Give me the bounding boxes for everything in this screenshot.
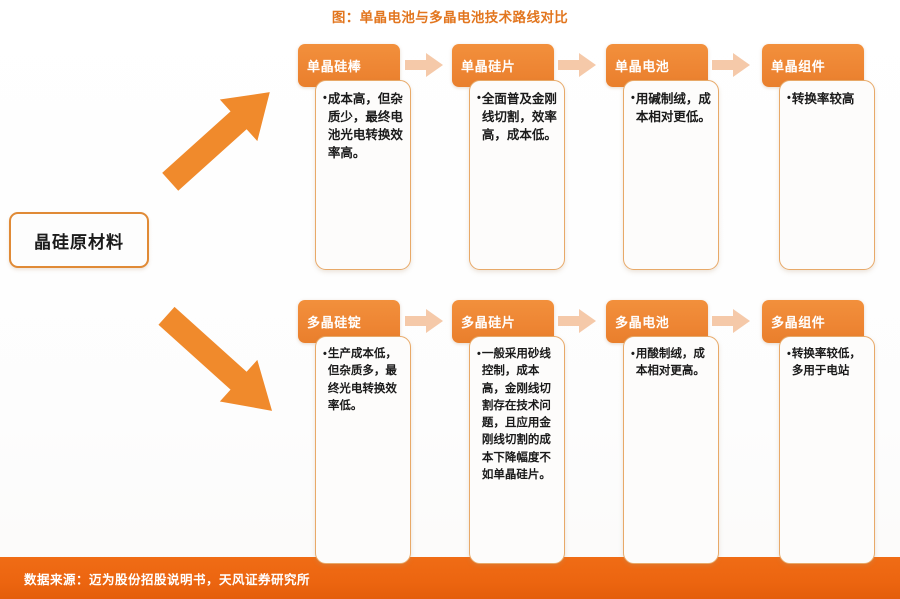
stage-poly-module: 多晶组件 • 转换率较低，多用于电站 xyxy=(762,300,887,550)
stage-mono-cell: 单晶电池 • 用碱制绒，成本相对更低。 xyxy=(606,44,726,274)
stage-mono-ingot: 单晶硅棒 • 成本高，但杂质少，最终电池光电转换效率高。 xyxy=(298,44,418,274)
bullet-marker: • xyxy=(787,346,791,363)
bullet-text: 成本高，但杂质少，最终电池光电转换效率高。 xyxy=(328,90,403,163)
bullet-item: • 用碱制绒，成本相对更低。 xyxy=(631,90,711,126)
stage-body: • 全面普及金刚线切割，效率高，成本低。 xyxy=(469,80,565,270)
stage-body: • 用碱制绒，成本相对更低。 xyxy=(623,80,719,270)
source-footer-bar: 数据来源：迈为股份招股说明书，天风证券研究所 xyxy=(0,557,900,599)
bullet-item: • 全面普及金刚线切割，效率高，成本低。 xyxy=(477,90,557,144)
bullet-marker: • xyxy=(323,346,327,363)
bullet-marker: • xyxy=(323,90,327,107)
stage-body: • 成本高，但杂质少，最终电池光电转换效率高。 xyxy=(315,80,411,270)
bullet-item: • 用酸制绒，成本相对更高。 xyxy=(631,346,711,381)
stage-body: • 一般采用砂线控制，成本高，金刚线切割存在技术问题，且应用金刚线切割的成本下降… xyxy=(469,336,565,564)
stage-poly-cell: 多晶电池 • 用酸制绒，成本相对更高。 xyxy=(606,300,726,550)
stage-poly-ingot: 多晶硅锭 • 生产成本低，但杂质多，最终光电转换效率低。 xyxy=(298,300,418,550)
arrow-up-right-icon xyxy=(145,62,295,212)
bullet-item: • 一般采用砂线控制，成本高，金刚线切割存在技术问题，且应用金刚线切割的成本下降… xyxy=(477,346,557,484)
bullet-marker: • xyxy=(787,90,791,107)
bullet-marker: • xyxy=(631,346,635,363)
arrow-down-right-icon xyxy=(140,292,300,437)
stage-header-label: 多晶电池 xyxy=(615,312,669,331)
stage-poly-wafer: 多晶硅片 • 一般采用砂线控制，成本高，金刚线切割存在技术问题，且应用金刚线切割… xyxy=(452,300,572,550)
bullet-text: 全面普及金刚线切割，效率高，成本低。 xyxy=(482,90,557,144)
bullet-item: • 成本高，但杂质少，最终电池光电转换效率高。 xyxy=(323,90,403,163)
connector-arrow-icon xyxy=(404,308,444,334)
stage-header-label: 单晶硅棒 xyxy=(307,56,361,75)
connector-arrow-icon xyxy=(557,52,597,78)
stage-body: • 生产成本低，但杂质多，最终光电转换效率低。 xyxy=(315,336,411,564)
bullet-marker: • xyxy=(477,346,481,363)
bullet-item: • 生产成本低，但杂质多，最终光电转换效率低。 xyxy=(323,346,403,415)
stage-header-label: 单晶电池 xyxy=(615,56,669,75)
connector-arrow-icon xyxy=(711,52,751,78)
stage-mono-wafer: 单晶硅片 • 全面普及金刚线切割，效率高，成本低。 xyxy=(452,44,572,274)
stage-body: • 转换率较高 xyxy=(779,80,875,270)
stage-header-label: 多晶硅片 xyxy=(461,312,515,331)
stage-mono-module: 单晶组件 • 转换率较高 xyxy=(762,44,887,274)
connector-arrow-icon xyxy=(711,308,751,334)
stage-header-label: 多晶硅锭 xyxy=(307,312,361,331)
source-material-box: 晶硅原材料 xyxy=(9,212,149,268)
connector-arrow-icon xyxy=(557,308,597,334)
bullet-text: 用酸制绒，成本相对更高。 xyxy=(636,346,711,381)
bullet-text: 转换率较低，多用于电站 xyxy=(792,346,867,381)
stage-body: • 用酸制绒，成本相对更高。 xyxy=(623,336,719,564)
bullet-text: 转换率较高 xyxy=(792,90,867,108)
stage-header-label: 多晶组件 xyxy=(771,312,825,331)
stage-header-label: 单晶组件 xyxy=(771,56,825,75)
page-title: 图：单晶电池与多晶电池技术路线对比 xyxy=(0,6,900,26)
diagram-canvas: 图：单晶电池与多晶电池技术路线对比 晶硅原材料 单晶硅棒 xyxy=(0,0,900,599)
bullet-marker: • xyxy=(477,90,481,107)
source-footer-text: 数据来源：迈为股份招股说明书，天风证券研究所 xyxy=(24,569,310,588)
connector-arrow-icon xyxy=(404,52,444,78)
source-material-label: 晶硅原材料 xyxy=(34,228,124,253)
bullet-text: 用碱制绒，成本相对更低。 xyxy=(636,90,711,126)
stage-header-label: 单晶硅片 xyxy=(461,56,515,75)
bullet-item: • 转换率较高 xyxy=(787,90,867,108)
bullet-marker: • xyxy=(631,90,635,107)
bullet-item: • 转换率较低，多用于电站 xyxy=(787,346,867,381)
stage-body: • 转换率较低，多用于电站 xyxy=(779,336,875,564)
bullet-text: 生产成本低，但杂质多，最终光电转换效率低。 xyxy=(328,346,403,415)
bullet-text: 一般采用砂线控制，成本高，金刚线切割存在技术问题，且应用金刚线切割的成本下降幅度… xyxy=(482,346,557,484)
